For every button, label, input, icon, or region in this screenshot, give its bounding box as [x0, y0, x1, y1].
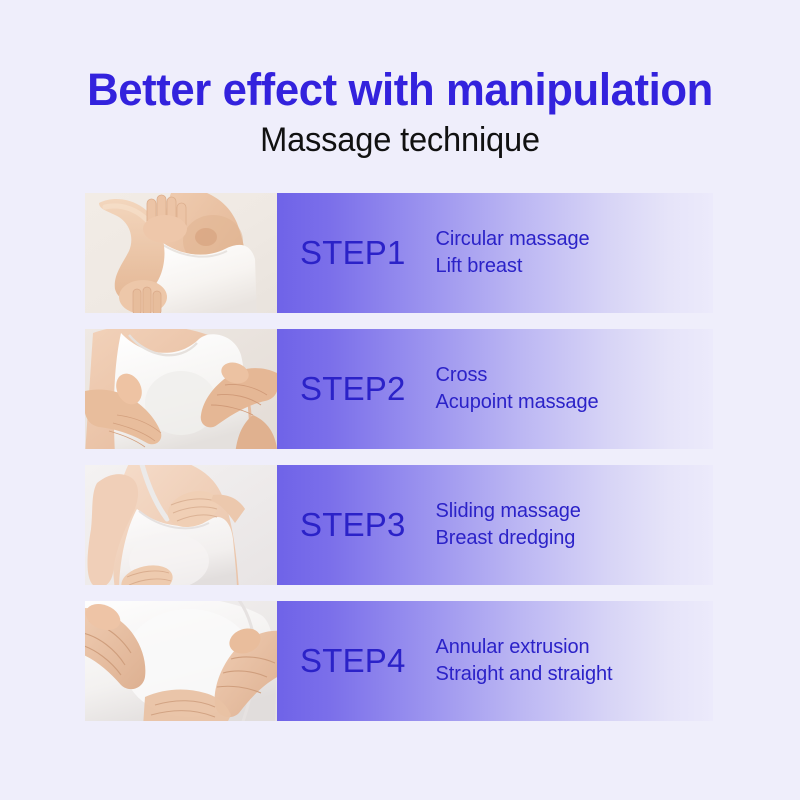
step-description-line2: Lift breast	[436, 253, 713, 280]
step-label: STEP2	[300, 371, 406, 407]
step-description: Annular extrusion Straight and straight	[436, 634, 713, 688]
step-photo-2	[85, 329, 277, 449]
step-photo-3	[85, 465, 277, 585]
step-photo-4	[85, 601, 277, 721]
step-description-line1: Cross	[436, 362, 713, 389]
step-row: STEP3 Sliding massage Breast dredging	[85, 465, 713, 585]
step-list: STEP1 Circular massage Lift breast	[85, 193, 713, 721]
step-photo-1	[85, 193, 277, 313]
step-description-line2: Acupoint massage	[436, 389, 713, 416]
step-description-line1: Circular massage	[436, 226, 713, 253]
page-subtitle: Massage technique	[16, 118, 784, 162]
annular-extrusion-massage-photo	[85, 601, 277, 721]
step-band-2: STEP2 Cross Acupoint massage	[277, 329, 713, 449]
step-label: STEP3	[300, 507, 406, 543]
cross-acupoint-massage-photo	[85, 329, 277, 449]
step-description-line2: Straight and straight	[436, 661, 713, 688]
step-row: STEP1 Circular massage Lift breast	[85, 193, 713, 313]
step-band-1: STEP1 Circular massage Lift breast	[277, 193, 713, 313]
step-band-4: STEP4 Annular extrusion Straight and str…	[277, 601, 713, 721]
step-label: STEP1	[300, 235, 406, 271]
step-description-line1: Annular extrusion	[436, 634, 713, 661]
step-description: Circular massage Lift breast	[436, 226, 713, 280]
step-description-line1: Sliding massage	[436, 498, 713, 525]
sliding-massage-photo	[85, 465, 277, 585]
step-description-line2: Breast dredging	[436, 525, 713, 552]
woman-lifting-breast-photo	[85, 193, 277, 313]
step-band-3: STEP3 Sliding massage Breast dredging	[277, 465, 713, 585]
poster-root: Better effect with manipulation Massage …	[0, 0, 800, 800]
step-description: Sliding massage Breast dredging	[436, 498, 713, 552]
step-description: Cross Acupoint massage	[436, 362, 713, 416]
page-title: Better effect with manipulation	[12, 64, 788, 116]
step-row: STEP4 Annular extrusion Straight and str…	[85, 601, 713, 721]
step-label: STEP4	[300, 643, 406, 679]
step-row: STEP2 Cross Acupoint massage	[85, 329, 713, 449]
